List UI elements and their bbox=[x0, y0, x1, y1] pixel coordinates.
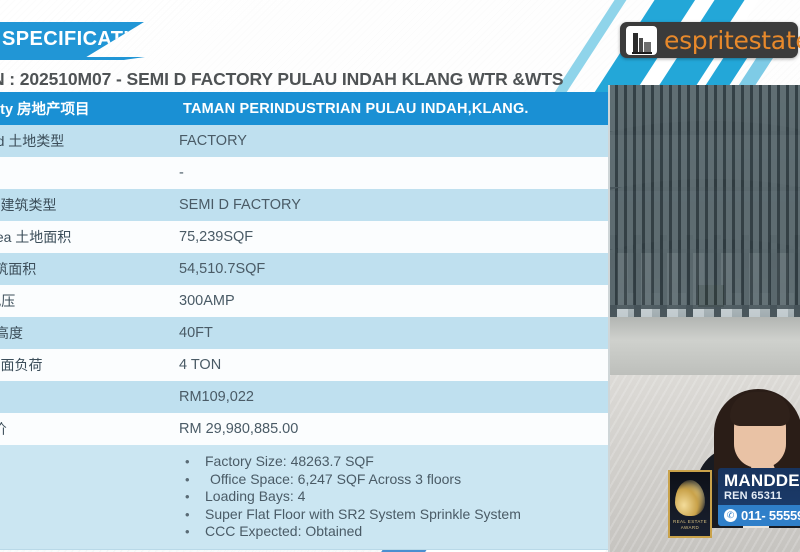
remarks-value: Factory Size: 48263.7 SQF Office Space: … bbox=[169, 445, 609, 549]
table-header-value: TAMAN PERINDUSTRIAN PULAU INDAH,KLANG. bbox=[169, 92, 609, 125]
photo-roof-trusses bbox=[608, 85, 800, 273]
row-value: SEMI D FACTORY bbox=[169, 189, 609, 221]
row-label: Power Supply 电压 bbox=[0, 285, 169, 317]
row-value: FACTORY bbox=[169, 125, 609, 157]
row-label: Type of Building 建筑类型 bbox=[0, 189, 169, 221]
phone-icon: ✆ bbox=[724, 509, 737, 522]
brand-name: espritestate bbox=[664, 28, 800, 53]
agent-name: MANDDE bbox=[724, 472, 796, 490]
remarks-bullet: Factory Size: 48263.7 SQF bbox=[179, 453, 521, 471]
row-label: Monthly 月租 bbox=[0, 381, 169, 413]
row-value: - bbox=[169, 157, 609, 189]
badge-subtitle: AWARD bbox=[681, 525, 699, 531]
row-label: Selling Price 卖价 bbox=[0, 413, 169, 445]
table-row: Type of Building 建筑类型 SEMI D FACTORY bbox=[0, 189, 609, 221]
row-value: RM 29,980,885.00 bbox=[169, 413, 609, 445]
row-value: 4 TON bbox=[169, 349, 609, 381]
remarks-bullet: Loading Bays: 4 bbox=[179, 488, 521, 506]
table-row: Land Built up Area 土地面积 75,239SQF bbox=[0, 221, 609, 253]
table-row: Ceiling Heights 高度 40FT bbox=[0, 317, 609, 349]
row-label: Tenure 占有期 bbox=[0, 157, 169, 189]
row-label: Floor Loading 地面负荷 bbox=[0, 349, 169, 381]
agent-phone-number: 011- 555593 bbox=[741, 508, 800, 523]
table-row: Power Supply 电压 300AMP bbox=[0, 285, 609, 317]
table-header-label: Subject Property 房地产项目 bbox=[0, 92, 169, 125]
row-value: 300AMP bbox=[169, 285, 609, 317]
title-underline bbox=[0, 57, 145, 60]
remarks-bullet-list: Factory Size: 48263.7 SQF Office Space: … bbox=[179, 453, 521, 541]
agent-name-card[interactable]: MANDDE REN 65311 ✆ 011- 555593 bbox=[718, 468, 800, 526]
table-row: Floor Loading 地面负荷 4 TON bbox=[0, 349, 609, 381]
slide-title-banner: SPECIFICATION bbox=[0, 22, 144, 57]
row-value: RM109,022 bbox=[169, 381, 609, 413]
remarks-bullet: Office Space: 6,247 SQF Across 3 floors bbox=[179, 471, 521, 489]
slide-canvas: espritestate SPECIFICATION DESCRIPTION :… bbox=[0, 0, 800, 552]
table-row: Monthly 月租 RM109,022 bbox=[0, 381, 609, 413]
award-badge: REAL ESTATE AWARD bbox=[668, 470, 712, 538]
specification-table: Subject Property 房地产项目 TAMAN PERINDUSTRI… bbox=[0, 92, 610, 550]
remarks-row: Remarks 备注 Factory Size: 48263.7 SQF Off… bbox=[0, 445, 609, 549]
row-label: Land Built up Area 土地面积 bbox=[0, 221, 169, 253]
row-value: 75,239SQF bbox=[169, 221, 609, 253]
remarks-label: Remarks 备注 bbox=[0, 481, 169, 513]
remarks-bullet: CCC Expected: Obtained bbox=[179, 523, 521, 541]
page-title: SPECIFICATION bbox=[0, 28, 160, 51]
table-row: Tenure 占有期 - bbox=[0, 157, 609, 189]
factory-interior-photo bbox=[608, 85, 800, 375]
agent-phone-bar[interactable]: ✆ 011- 555593 bbox=[718, 505, 800, 526]
row-label: Category of Land 土地类型 bbox=[0, 125, 169, 157]
row-value: 54,510.7SQF bbox=[169, 253, 609, 285]
portrait-hair-front bbox=[730, 392, 790, 426]
photo-floor bbox=[610, 317, 800, 375]
table-header-row: Subject Property 房地产项目 TAMAN PERINDUSTRI… bbox=[0, 92, 609, 125]
agent-ren-number: REN 65311 bbox=[724, 490, 796, 503]
table-row: Built up Area 建筑面积 54,510.7SQF bbox=[0, 253, 609, 285]
flame-icon bbox=[675, 480, 705, 516]
row-label: Ceiling Heights 高度 bbox=[0, 317, 169, 349]
building-icon bbox=[626, 26, 657, 55]
brand-logo[interactable]: espritestate bbox=[620, 22, 798, 58]
table-row: Selling Price 卖价 RM 29,980,885.00 bbox=[0, 413, 609, 445]
table-row: Category of Land 土地类型 FACTORY bbox=[0, 125, 609, 157]
description-line: DESCRIPTION : 202510M07 - SEMI D FACTORY… bbox=[0, 66, 626, 92]
row-value: 40FT bbox=[169, 317, 609, 349]
row-label: Built up Area 建筑面积 bbox=[0, 253, 169, 285]
remarks-bullet: Super Flat Floor with SR2 System Sprinkl… bbox=[179, 506, 521, 524]
